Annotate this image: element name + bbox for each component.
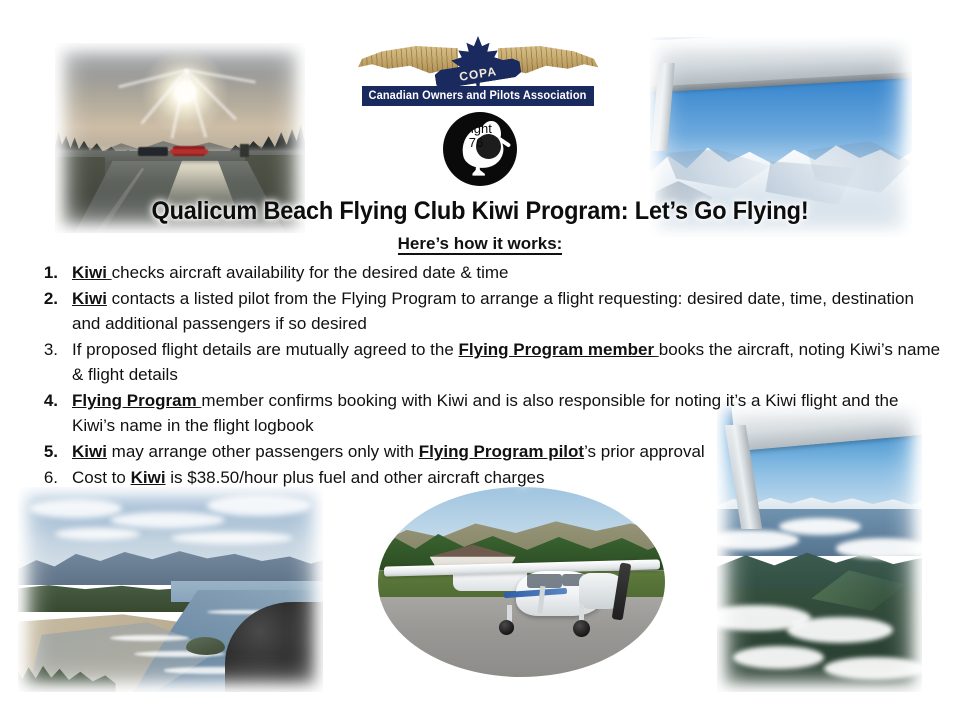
- list-item-text: Flying Program member confirms booking w…: [72, 388, 943, 438]
- list-item-text: Kiwi may arrange other passengers only w…: [72, 439, 943, 464]
- list-item-text: Kiwi contacts a listed pilot from the Fl…: [72, 286, 943, 336]
- flight-label-line1: Flight: [460, 121, 492, 136]
- steps-list: 1.Kiwi checks aircraft availability for …: [18, 260, 943, 491]
- list-item: 1.Kiwi checks aircraft availability for …: [18, 260, 943, 285]
- list-item-number: 1.: [18, 260, 72, 285]
- plain-text: Cost to: [72, 468, 131, 487]
- list-item-text: If proposed flight details are mutually …: [72, 337, 943, 387]
- list-item-number: 3.: [18, 337, 72, 362]
- plain-text: may arrange other passengers only with: [107, 442, 419, 461]
- copa-emblem-text: COPA: [458, 64, 498, 84]
- list-item-number: 6.: [18, 465, 72, 490]
- emphasis-text: Kiwi: [131, 468, 166, 487]
- list-item: 5.Kiwi may arrange other passengers only…: [18, 439, 943, 464]
- list-item-text: Cost to Kiwi is $38.50/hour plus fuel an…: [72, 465, 943, 490]
- coastal-beach-photo: [18, 487, 323, 692]
- list-item-text: Kiwi checks aircraft availability for th…: [72, 260, 943, 285]
- plain-text: checks aircraft availability for the des…: [112, 263, 509, 282]
- emphasis-text: Kiwi: [72, 442, 107, 461]
- list-item-number: 2.: [18, 286, 72, 311]
- emphasis-text: Flying Program: [72, 391, 201, 410]
- plain-text: ’s prior approval: [584, 442, 705, 461]
- emphasis-text: Kiwi: [72, 289, 107, 308]
- subtitle-text: Here’s how it works:: [398, 234, 563, 255]
- plain-text: contacts a listed pilot from the Flying …: [72, 289, 914, 333]
- emphasis-text: Flying Program member: [459, 340, 659, 359]
- plain-text: is $38.50/hour plus fuel and other aircr…: [166, 468, 545, 487]
- emphasis-text: Kiwi: [72, 263, 112, 282]
- cessna-ramp-photo: [378, 487, 665, 677]
- copa-banner-text: Canadian Owners and Pilots Association: [369, 90, 587, 102]
- list-item: 3.If proposed flight details are mutuall…: [18, 337, 943, 387]
- list-item-number: 5.: [18, 439, 72, 464]
- subtitle-heading: Here’s how it works:: [0, 234, 960, 254]
- list-item: 6.Cost to Kiwi is $38.50/hour plus fuel …: [18, 465, 943, 490]
- flight-roundel-label: Flight 76: [448, 122, 504, 150]
- list-item: 4.Flying Program member confirms booking…: [18, 388, 943, 438]
- copa-banner: Canadian Owners and Pilots Association: [362, 86, 594, 106]
- presentation-slide: COPA Canadian Owners and Pilots Associat…: [0, 0, 960, 720]
- plain-text: If proposed flight details are mutually …: [72, 340, 459, 359]
- list-item: 2.Kiwi contacts a listed pilot from the …: [18, 286, 943, 336]
- flight-label-line2: 76: [448, 136, 504, 150]
- list-item-number: 4.: [18, 388, 72, 413]
- emphasis-text: Flying Program pilot: [419, 442, 584, 461]
- page-title: Qualicum Beach Flying Club Kiwi Program:…: [29, 197, 931, 226]
